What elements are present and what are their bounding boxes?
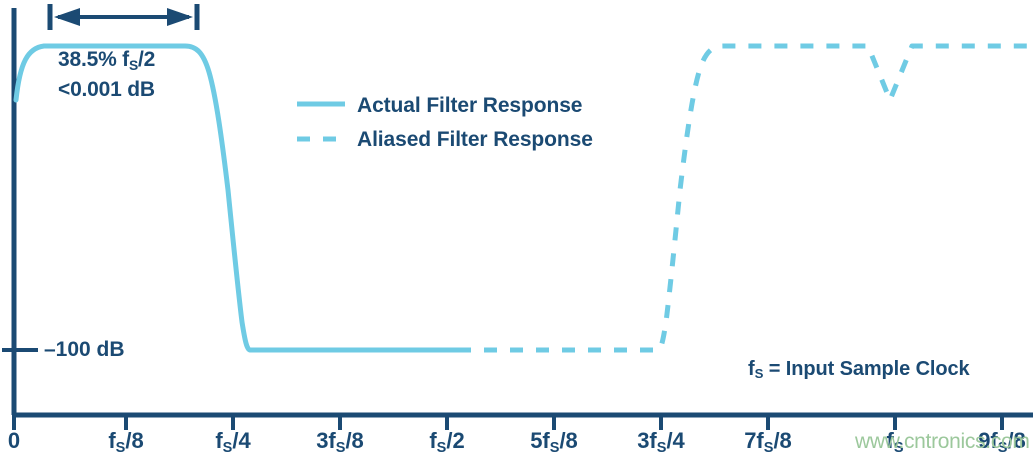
tick-suffix: /4	[666, 428, 684, 453]
fs-subscript: S	[550, 440, 560, 456]
x-tick-label-7: 7fS/8	[744, 428, 792, 454]
legend	[297, 104, 345, 139]
fs-subscript: S	[657, 440, 667, 456]
tick-prefix: 3f	[316, 428, 336, 453]
tick-suffix: /8	[773, 428, 791, 453]
watermark: www.cntronics.com	[855, 430, 1030, 454]
axes	[14, 8, 1033, 415]
fs-definition-note: fS = Input Sample Clock	[748, 358, 970, 381]
passband-ripple-label: <0.001 dB	[58, 78, 155, 102]
tick-suffix: /4	[232, 428, 250, 453]
aliased-filter-response-curve	[458, 46, 1033, 350]
tick-prefix: 3f	[637, 428, 657, 453]
tick-suffix: /2	[446, 428, 464, 453]
tick-prefix: 5f	[530, 428, 550, 453]
fs-subscript: S	[129, 57, 138, 73]
fs-subscript: S	[437, 440, 447, 456]
x-tick-label-2: fS/4	[215, 428, 250, 454]
fs-subscript: S	[116, 440, 126, 456]
legend-label-aliased: Aliased Filter Response	[357, 128, 593, 152]
tick-prefix: 7f	[744, 428, 764, 453]
tick-suffix: /8	[125, 428, 143, 453]
tick-prefix: 0	[8, 428, 20, 453]
x-tick-label-3: 3fS/8	[316, 428, 364, 454]
tick-suffix: /8	[559, 428, 577, 453]
fs-subscript: S	[755, 366, 764, 381]
dimension-arrowhead-left	[54, 8, 80, 26]
fs-subscript: S	[764, 440, 774, 456]
x-tick-label-1: fS/8	[108, 428, 143, 454]
fs-subscript: S	[336, 440, 346, 456]
x-tick-label-5: 5fS/8	[530, 428, 578, 454]
x-tick-label-4: fS/2	[429, 428, 464, 454]
fs-subscript: S	[223, 440, 233, 456]
tick-suffix: /8	[345, 428, 363, 453]
passband-width-label: 38.5% fS/2	[58, 48, 155, 72]
dimension-arrowhead-right	[167, 8, 193, 26]
legend-label-actual: Actual Filter Response	[357, 94, 582, 118]
passband-width-dimension	[50, 4, 197, 30]
x-tick-label-6: 3fS/4	[637, 428, 685, 454]
y-axis-floor-label: –100 dB	[44, 338, 125, 362]
x-tick-label-0: 0	[8, 428, 20, 454]
filter-response-chart: 38.5% fS/2 <0.001 dB Actual Filter Respo…	[0, 0, 1033, 458]
